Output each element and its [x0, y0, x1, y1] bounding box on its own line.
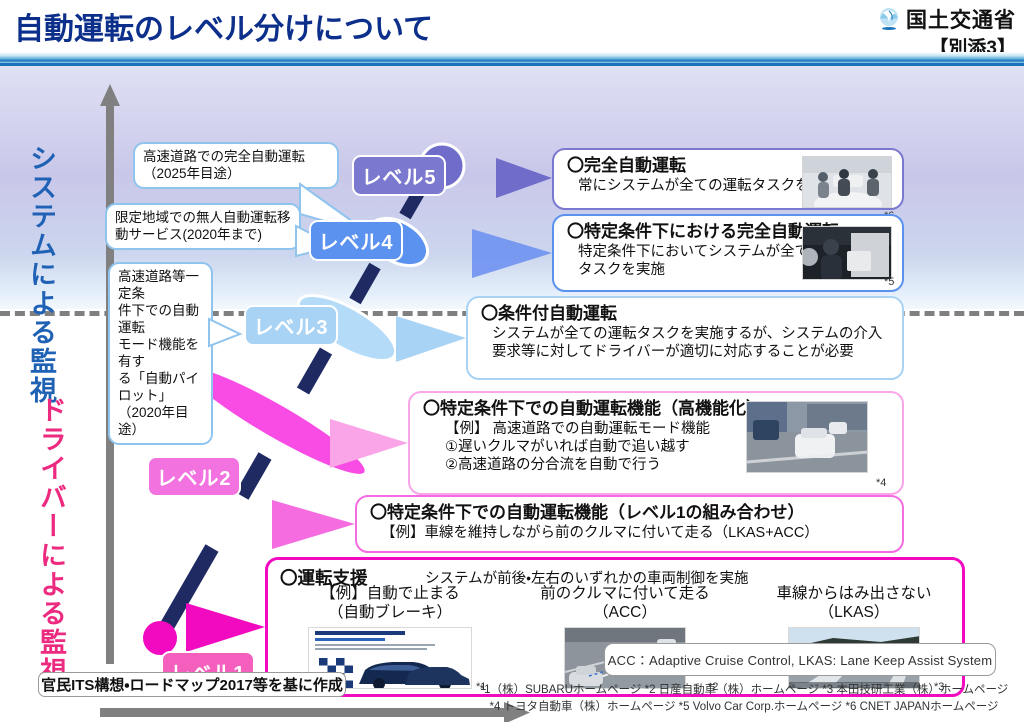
panel-level-2b-body: 【例】車線を維持しながら前のクルマに付いて走る（LKAS+ACC）	[381, 524, 892, 542]
header-gradient-rule	[0, 52, 1024, 63]
badge-level-2[interactable]: レベル2	[147, 456, 241, 497]
level1-example-3-caption: 車線からはみ出さない （LKAS）	[746, 585, 962, 623]
callout-level3: 高速道路等一定条 件下での自動運転 モード機能を有す る「自動パイロット」 （2…	[108, 262, 213, 445]
panel-level-3-title: 〇条件付自動運転	[481, 304, 892, 325]
panel-level-4: 〇特定条件下における完全自動運転 特定条件下においてシステムが全ての運転 タスク…	[552, 214, 904, 292]
ministry-name: 国土交通省	[906, 4, 1016, 34]
badge-level-3[interactable]: レベル3	[244, 305, 338, 346]
level2a-thumbnail	[746, 401, 868, 473]
infographic-root: 自動運転のレベル分けについて 国土交通省 【別添3】	[0, 0, 1024, 722]
level1-example-1-caption: 【例】自動で止まる （自動ブレーキ）	[280, 585, 500, 623]
callout-level5: 高速道路での完全自動運転 （2025年目途）	[133, 142, 339, 189]
image-sources-line-2: *4 トヨタ自動車（株）ホームページ *5 Volvo Car Corp.ホーム…	[470, 699, 1018, 716]
image-sources-line-1: *1（株）SUBARUホームページ *2 日産自動車（株）ホームページ *3 本…	[470, 682, 1018, 699]
level1-example-2-caption: 前のクルマに付いて走る （ACC）	[512, 585, 738, 623]
panel-level-2b-title: 〇特定条件下での自動運転機能（レベル1の組み合わせ）	[370, 503, 892, 524]
acronym-legend-box: ACC：Adaptive Cruise Control, LKAS: Lane …	[604, 643, 996, 676]
callout-level4: 限定地域での無人自動運転移 動サービス(2020年まで)	[105, 203, 301, 250]
page-title: 自動運転のレベル分けについて	[14, 4, 433, 48]
panel-level-2-advanced: 〇特定条件下での自動運転機能（高機能化） 【例】 高速道路での自動運転モード機能…	[408, 391, 904, 495]
panel-level-3-body: システムが全ての運転タスクを実施するが、システムの介入 要求等に対してドライバー…	[492, 325, 892, 362]
image-sources: *1（株）SUBARUホームページ *2 日産自動車（株）ホームページ *3 本…	[470, 682, 1018, 715]
badge-level-4[interactable]: レベル4	[309, 220, 403, 261]
level4-thumbnail	[802, 226, 892, 280]
diagram-canvas: システムによる監視 ドライバーによる監視	[0, 66, 1024, 722]
level4-footnote: *5	[884, 276, 894, 288]
panel-level-1: 〇運転支援 システムが前後・左右のいずれかの車両制御を実施 【例】自動で止まる …	[265, 557, 965, 697]
level5-thumbnail	[802, 156, 892, 208]
page-header: 自動運転のレベル分けについて 国土交通省 【別添3】	[0, 0, 1024, 60]
level2a-footnote: *4	[876, 477, 886, 489]
source-caption-box: 官民ITS構想・ロードマップ2017等を基に作成	[38, 672, 346, 697]
panel-level-3: 〇条件付自動運転 システムが全ての運転タスクを実施するが、システムの介入 要求等…	[466, 296, 904, 380]
panel-level-5: 〇完全自動運転 常にシステムが全ての運転タスクを実施 *6	[552, 148, 904, 210]
badge-level-5[interactable]: レベル5	[352, 155, 446, 196]
panel-level-2-combination: 〇特定条件下での自動運転機能（レベル1の組み合わせ） 【例】車線を維持しながら前…	[355, 495, 904, 553]
ministry-logo-icon	[877, 7, 901, 31]
